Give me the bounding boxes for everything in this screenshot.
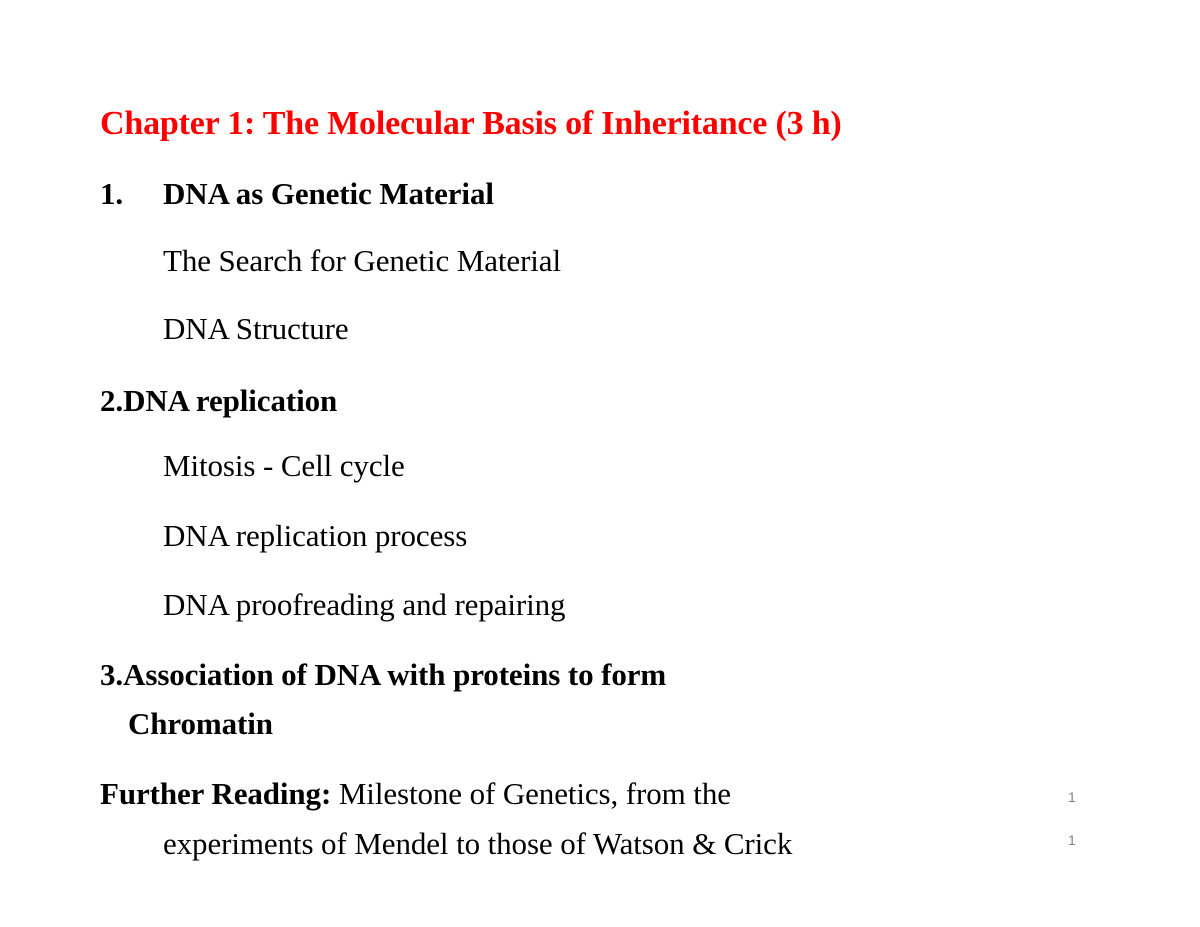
page-number-secondary: 1	[1068, 832, 1076, 848]
slide-canvas: Chapter 1: The Molecular Basis of Inheri…	[0, 0, 1200, 927]
further-reading-line-2: experiments of Mendel to those of Watson…	[163, 828, 792, 859]
outline-heading-3: 3.Association of DNA with proteins to fo…	[100, 659, 666, 690]
outline-heading-3-text: Association of DNA with proteins to form	[123, 657, 666, 692]
outline-number-3: 3.	[100, 657, 123, 692]
page-number-primary: 1	[1068, 789, 1076, 805]
outline-subitem-1-2: DNA Structure	[163, 313, 349, 344]
outline-subitem-2-3: DNA proofreading and repairing	[163, 589, 565, 620]
outline-subitem-1-1: The Search for Genetic Material	[163, 245, 561, 276]
further-reading-line-1-text: Milestone of Genetics, from the	[331, 776, 731, 811]
outline-number-2: 2.	[100, 383, 123, 418]
outline-heading-1: 1.DNA as Genetic Material	[100, 178, 494, 209]
outline-heading-1-text: DNA as Genetic Material	[163, 176, 494, 211]
slide-title: Chapter 1: The Molecular Basis of Inheri…	[100, 107, 842, 141]
outline-heading-3-continuation: Chromatin	[128, 708, 273, 739]
outline-heading-2: 2.DNA replication	[100, 385, 337, 416]
outline-subitem-2-2: DNA replication process	[163, 520, 467, 551]
further-reading-label: Further Reading:	[100, 776, 331, 811]
further-reading-line-1: Further Reading: Milestone of Genetics, …	[100, 778, 731, 809]
outline-heading-2-text: DNA replication	[123, 383, 337, 418]
outline-number-1: 1.	[100, 178, 163, 209]
outline-subitem-2-1: Mitosis - Cell cycle	[163, 450, 405, 481]
